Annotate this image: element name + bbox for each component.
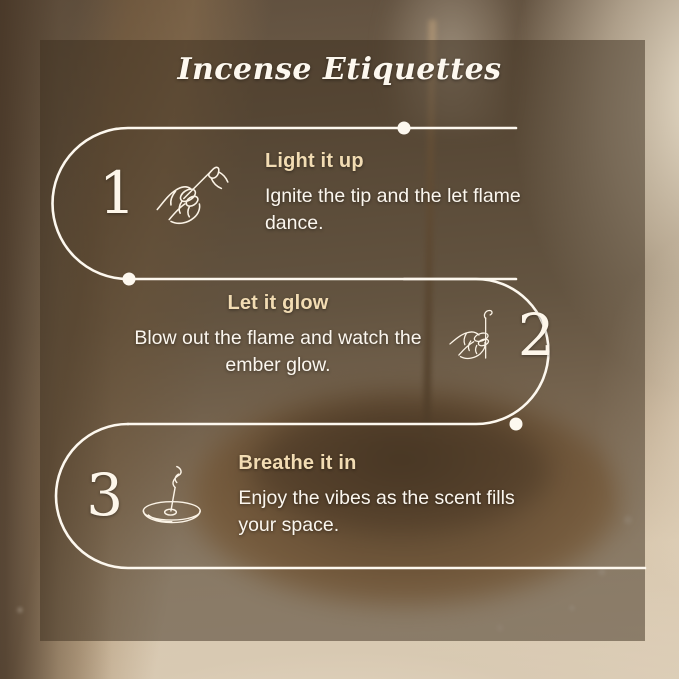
infographic-canvas: Incense Etiquettes 1 — [0, 0, 679, 679]
hand-holding-smoking-incense-icon — [444, 292, 512, 378]
step-2-number: 2 — [512, 306, 560, 364]
step-3: 3 Breathe it in Enjoy the vibes as the s… — [78, 452, 558, 538]
step-3-body: Enjoy the vibes as the scent fills your … — [238, 485, 558, 538]
step-1-body: Ignite the tip and the let flame dance. — [265, 183, 558, 236]
step-1: 1 Light it up — [88, 150, 558, 236]
step-3-heading: Breathe it in — [238, 452, 558, 475]
step-2-copy: Let it glow Blow out the flame and watch… — [130, 292, 426, 378]
step-2: Let it glow Blow out the flame and watch… — [130, 292, 560, 378]
step-3-copy: Breathe it in Enjoy the vibes as the sce… — [238, 452, 558, 538]
incense-stick-in-holder-icon — [135, 452, 212, 538]
step-1-copy: Light it up Ignite the tip and the let f… — [265, 150, 558, 236]
step-2-body: Blow out the flame and watch the ember g… — [130, 325, 426, 378]
hand-holding-lit-match-icon — [149, 150, 233, 236]
page-title: Incense Etiquettes — [0, 52, 679, 87]
step-2-heading: Let it glow — [130, 292, 426, 315]
step-3-number: 3 — [78, 466, 131, 524]
step-1-number: 1 — [88, 164, 147, 222]
step-1-heading: Light it up — [265, 150, 558, 173]
